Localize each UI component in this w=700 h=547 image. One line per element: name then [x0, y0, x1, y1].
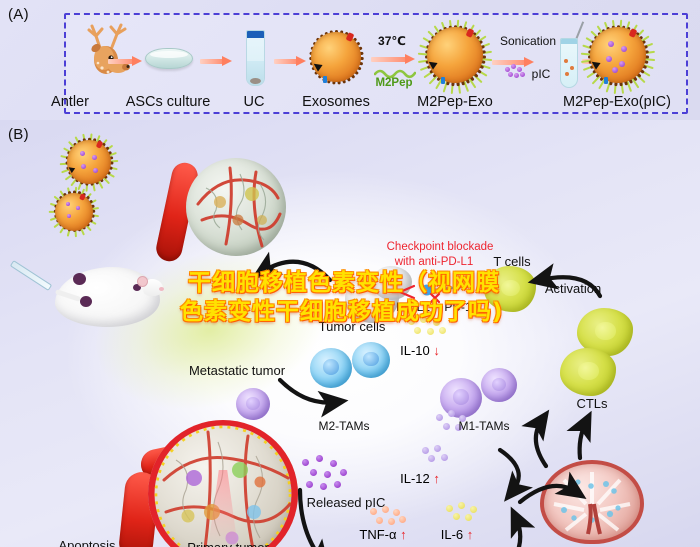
m2pep-label: M2Pep — [375, 77, 412, 89]
centrifuge-tube-icon — [246, 30, 265, 86]
il-10-label-group: IL-10 ↓ — [400, 343, 440, 358]
m2-tams-label: M2-TAMs — [318, 419, 369, 433]
petri-dish-icon — [145, 48, 193, 69]
injection-glow — [80, 229, 339, 430]
m1-macrophage-icon-2 — [481, 368, 517, 402]
apoptosis-label: Apoptosis — [58, 538, 115, 547]
panel-b-letter: (B) — [8, 126, 29, 143]
panel-a: (A) — [0, 0, 700, 120]
tnf-alpha-up-arrow: ↑ — [400, 527, 407, 542]
m2-macrophage-icon-2 — [352, 342, 390, 378]
step-label-m2pep-exo-pic: M2Pep-Exo(pIC) — [563, 94, 671, 110]
il-6-label-group: IL-6 ↑ — [441, 527, 474, 542]
deer-icon — [78, 22, 140, 89]
sonication-label: Sonication — [500, 34, 556, 48]
sonication-tube-icon — [560, 38, 578, 88]
activation-label: Activation — [545, 281, 601, 296]
il-6-label: IL-6 — [441, 527, 463, 542]
ctl-cell-icon — [560, 348, 616, 396]
pic-molecule-icon — [505, 64, 527, 80]
exosome-icon — [311, 32, 361, 82]
syringe-icon — [10, 260, 52, 291]
metastatic-tumor-icon — [186, 158, 286, 256]
m1-macrophage-icon-3 — [236, 388, 270, 420]
step-label-ascs-culture: ASCs culture — [126, 94, 211, 110]
m1-tams-label: M1-TAMs — [458, 419, 509, 433]
temperature-label: 37℃ — [378, 34, 406, 48]
overlay-text-line2: 色素变性干细胞移植成功了吗) — [180, 292, 504, 326]
membrane-protein-blue — [441, 77, 445, 84]
released-pic-dots — [300, 455, 366, 495]
ctls-label: CTLs — [576, 396, 607, 411]
m2pep-exosome-icon — [427, 27, 483, 83]
il-12-label: IL-12 — [400, 471, 430, 486]
tnf-alpha-label-group: TNF-α ↑ — [359, 527, 406, 542]
membrane-protein-blue — [604, 77, 608, 84]
primary-tumor-label: Primary tumor — [187, 540, 269, 547]
m2-macrophage-icon-1 — [310, 348, 352, 388]
nanoparticle-icon-2 — [55, 193, 93, 231]
mouse-icon — [55, 267, 160, 327]
m2pep-exosome-pic-icon — [590, 27, 646, 83]
nanoparticle-icon-1 — [67, 140, 111, 184]
arrow-uc-to-exosomes — [274, 57, 306, 66]
released-pic-label: Released pIC — [307, 495, 386, 510]
figure-root: (A) — [0, 0, 700, 547]
arrow-culture-to-uc — [200, 57, 232, 66]
step-label-antler: Antler — [51, 94, 89, 110]
il-6-cytokine-dots — [444, 502, 490, 526]
il-10-down-arrow: ↓ — [433, 343, 440, 358]
pic-label: pIC — [532, 67, 551, 81]
membrane-protein-blue — [323, 76, 327, 83]
lymph-node-icon — [540, 460, 644, 544]
panel-b: (B) — [0, 120, 700, 547]
panel-a-letter: (A) — [8, 6, 29, 23]
metastatic-tumor-label: Metastatic tumor — [189, 363, 285, 378]
il-12-label-group: IL-12 ↑ — [400, 471, 440, 486]
tnf-alpha-label: TNF-α — [359, 527, 396, 542]
checkpoint-blockade-line1: Checkpoint blockade — [387, 241, 494, 253]
step-label-m2pep-exo: M2Pep-Exo — [417, 94, 493, 110]
arrow-exosomes-to-m2pep — [371, 55, 415, 64]
il-6-up-arrow: ↑ — [467, 527, 474, 542]
il-12-up-arrow: ↑ — [433, 471, 440, 486]
arrow-antler-to-culture — [108, 57, 142, 66]
il-10-label: IL-10 — [400, 343, 430, 358]
step-label-uc: UC — [244, 94, 265, 110]
step-label-exosomes: Exosomes — [302, 94, 370, 110]
il-12-cytokine-dots — [418, 445, 464, 469]
